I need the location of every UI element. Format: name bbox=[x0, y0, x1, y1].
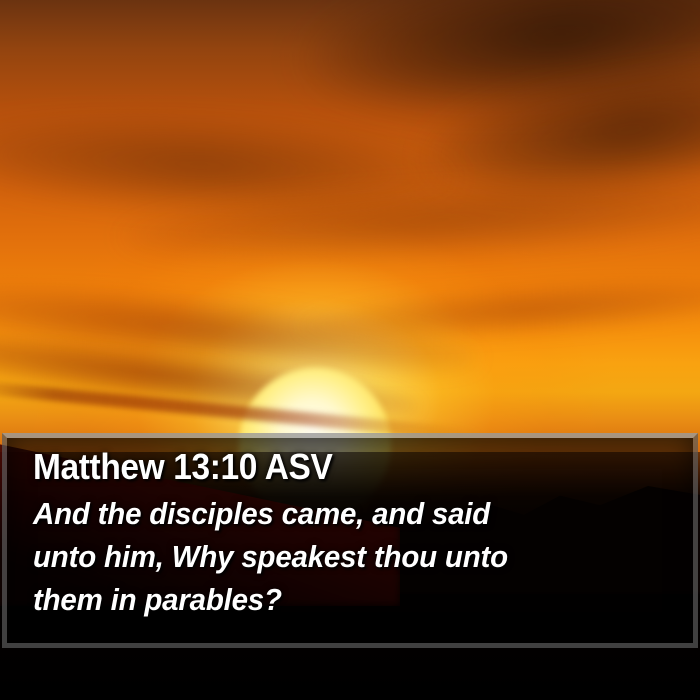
verse-overlay-panel: Matthew 13:10 ASV And the disciples came… bbox=[2, 433, 698, 648]
scripture-verse-card: Matthew 13:10 ASV And the disciples came… bbox=[0, 0, 700, 700]
verse-overlay-content: Matthew 13:10 ASV And the disciples came… bbox=[7, 438, 693, 643]
verse-reference: Matthew 13:10 ASV bbox=[33, 446, 626, 488]
verse-line-3: them in parables? bbox=[33, 578, 639, 621]
verse-text: And the disciples came, and said unto hi… bbox=[33, 492, 639, 621]
verse-line-1: And the disciples came, and said bbox=[33, 492, 639, 535]
verse-line-2: unto him, Why speakest thou unto bbox=[33, 535, 639, 578]
